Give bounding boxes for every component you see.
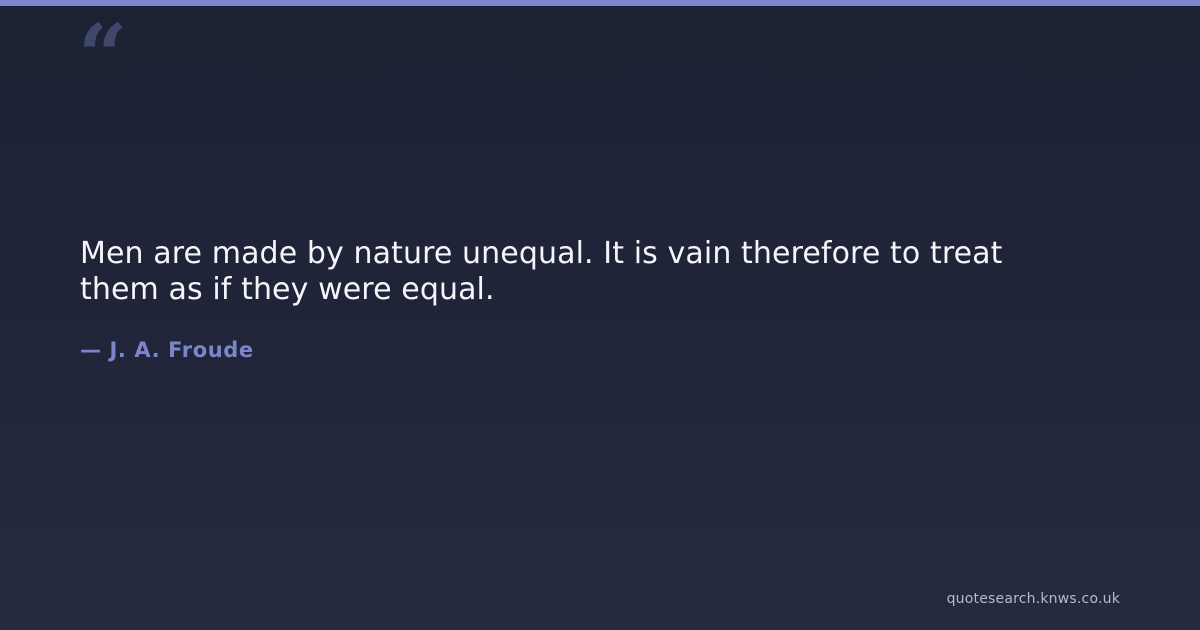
quote-text: Men are made by nature unequal. It is va… bbox=[80, 236, 1065, 308]
quote-card: “ Men are made by nature unequal. It is … bbox=[0, 0, 1200, 630]
quote-content: Men are made by nature unequal. It is va… bbox=[80, 236, 1080, 362]
top-accent-bar bbox=[0, 0, 1200, 6]
quote-attribution: — J. A. Froude bbox=[80, 308, 1080, 362]
site-url-footer: quotesearch.knws.co.uk bbox=[947, 591, 1120, 607]
opening-quote-mark-icon: “ bbox=[78, 14, 125, 100]
